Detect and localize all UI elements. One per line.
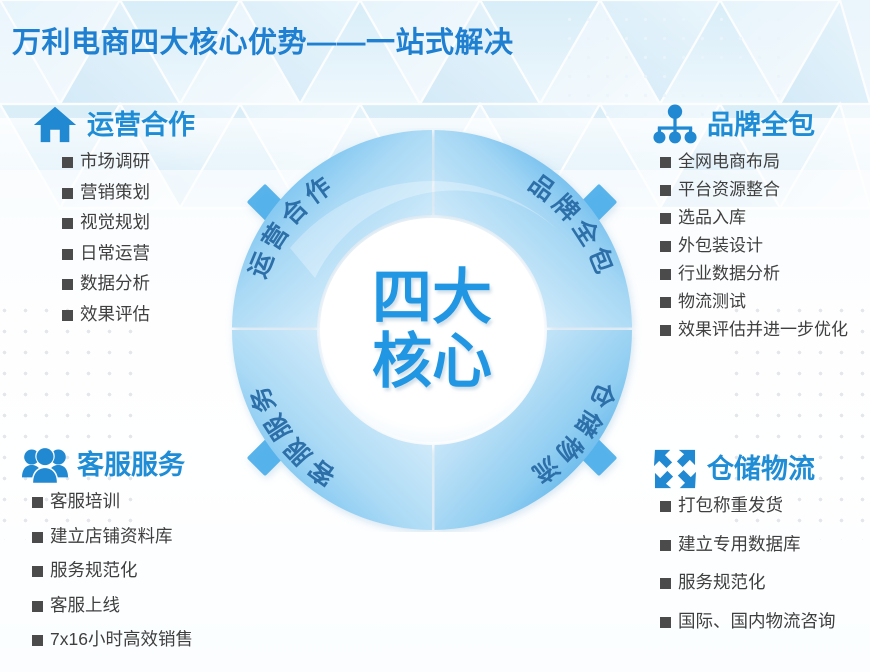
list-item: 建立店铺资料库 (32, 528, 193, 546)
org-chart-icon (652, 104, 698, 146)
list-item: 服务规范化 (660, 574, 836, 592)
bullet-square-icon (660, 617, 671, 628)
list-item: 平台资源整合 (660, 181, 848, 198)
list-item-label: 市场调研 (80, 153, 150, 171)
bullet-square-icon (62, 218, 73, 229)
bullet-square-icon (660, 325, 671, 336)
list-item: 客服上线 (32, 597, 193, 615)
bullet-square-icon (62, 249, 73, 260)
list-item-label: 行业数据分析 (678, 265, 780, 282)
list-item-label: 视觉规划 (80, 214, 150, 232)
bullet-square-icon (660, 501, 671, 512)
list-item: 效果评估并进一步优化 (660, 321, 848, 338)
list-item: 全网电商布局 (660, 153, 848, 170)
feature-list-customer-service: 客服培训 建立店铺资料库 服务规范化 客服上线 7x16小时高效销售 (22, 493, 193, 649)
feature-list-brand: 全网电商布局 平台资源整合 选品入库 外包装设计 行业数据分析 物流测试 效果评… (652, 153, 848, 338)
list-item: 物流测试 (660, 293, 848, 310)
bullet-square-icon (62, 279, 73, 290)
list-item: 效果评估 (62, 306, 195, 324)
list-item-label: 效果评估并进一步优化 (678, 321, 848, 338)
feature-list-operations: 市场调研 营销策划 视觉规划 日常运营 数据分析 效果评估 (32, 153, 195, 323)
list-item: 选品入库 (660, 209, 848, 226)
list-item: 日常运营 (62, 245, 195, 263)
list-item-label: 服务规范化 (50, 562, 138, 580)
feature-list-warehouse-logistics: 打包称重发货 建立专用数据库 服务规范化 国际、国内物流咨询 (652, 497, 836, 630)
bullet-square-icon (660, 241, 671, 252)
list-item-label: 国际、国内物流咨询 (678, 613, 836, 631)
feature-block-warehouse-logistics: 仓储物流 打包称重发货 建立专用数据库 服务规范化 国际、国内物流咨询 (652, 448, 836, 651)
bullet-square-icon (660, 578, 671, 589)
feature-block-brand: 品牌全包 全网电商布局 平台资源整合 选品入库 外包装设计 行业数据分析 物流测… (652, 104, 848, 349)
bullet-square-icon (660, 297, 671, 308)
center-headline-line1: 四大 (372, 266, 492, 330)
list-item: 建立专用数据库 (660, 536, 836, 554)
list-item-label: 客服上线 (50, 597, 120, 615)
four-arrows-expand-icon (652, 448, 698, 490)
list-item-label: 打包称重发货 (678, 497, 783, 515)
list-item-label: 7x16小时高效销售 (50, 631, 193, 649)
feature-block-operations-header: 运营合作 (32, 104, 195, 146)
bullet-square-icon (32, 601, 43, 612)
bullet-square-icon (660, 185, 671, 196)
bullet-square-icon (62, 157, 73, 168)
feature-block-warehouse-logistics-header: 仓储物流 (652, 448, 836, 490)
list-item-label: 选品入库 (678, 209, 746, 226)
feature-block-customer-service: 客服服务 客服培训 建立店铺资料库 服务规范化 客服上线 7x16小时高效销售 (22, 444, 193, 666)
list-item-label: 服务规范化 (678, 574, 766, 592)
bullet-square-icon (660, 213, 671, 224)
center-headline-line2: 核心 (372, 330, 492, 394)
list-item-label: 效果评估 (80, 306, 150, 324)
four-core-donut-diagram: 运营合作 品牌全包 客服服务 仓储物流 四大 核心 (195, 128, 669, 532)
page-title: 万利电商四大核心优势——一站式解决 (12, 19, 514, 61)
list-item: 服务规范化 (32, 562, 193, 580)
bullet-square-icon (32, 532, 43, 543)
feature-block-customer-service-title: 客服服务 (77, 452, 185, 479)
bullet-square-icon (660, 269, 671, 280)
list-item: 市场调研 (62, 153, 195, 171)
bullet-square-icon (660, 540, 671, 551)
list-item-label: 建立店铺资料库 (50, 528, 173, 546)
list-item: 视觉规划 (62, 214, 195, 232)
feature-block-brand-header: 品牌全包 (652, 104, 848, 146)
users-group-icon (22, 444, 68, 486)
list-item: 数据分析 (62, 275, 195, 293)
list-item-label: 建立专用数据库 (678, 536, 801, 554)
feature-block-operations: 运营合作 市场调研 营销策划 视觉规划 日常运营 数据分析 效果评估 (32, 104, 195, 336)
bullet-square-icon (62, 188, 73, 199)
list-item: 外包装设计 (660, 237, 848, 254)
list-item: 国际、国内物流咨询 (660, 613, 836, 631)
list-item-label: 全网电商布局 (678, 153, 780, 170)
bullet-square-icon (660, 157, 671, 168)
bullet-square-icon (32, 566, 43, 577)
bullet-square-icon (62, 310, 73, 321)
list-item: 7x16小时高效销售 (32, 631, 193, 649)
list-item-label: 客服培训 (50, 493, 120, 511)
list-item-label: 物流测试 (678, 293, 746, 310)
center-headline: 四大 核心 (372, 266, 492, 394)
feature-block-warehouse-logistics-title: 仓储物流 (707, 456, 815, 483)
list-item: 行业数据分析 (660, 265, 848, 282)
list-item-label: 数据分析 (80, 275, 150, 293)
list-item: 营销策划 (62, 184, 195, 202)
bullet-square-icon (32, 497, 43, 508)
feature-block-brand-title: 品牌全包 (707, 112, 815, 139)
feature-block-operations-title: 运营合作 (87, 112, 195, 139)
list-item-label: 营销策划 (80, 184, 150, 202)
list-item-label: 日常运营 (80, 245, 150, 263)
bullet-square-icon (32, 635, 43, 646)
home-icon (32, 104, 78, 146)
feature-block-customer-service-header: 客服服务 (22, 444, 193, 486)
list-item-label: 外包装设计 (678, 237, 763, 254)
list-item: 客服培训 (32, 493, 193, 511)
list-item: 打包称重发货 (660, 497, 836, 515)
list-item-label: 平台资源整合 (678, 181, 780, 198)
